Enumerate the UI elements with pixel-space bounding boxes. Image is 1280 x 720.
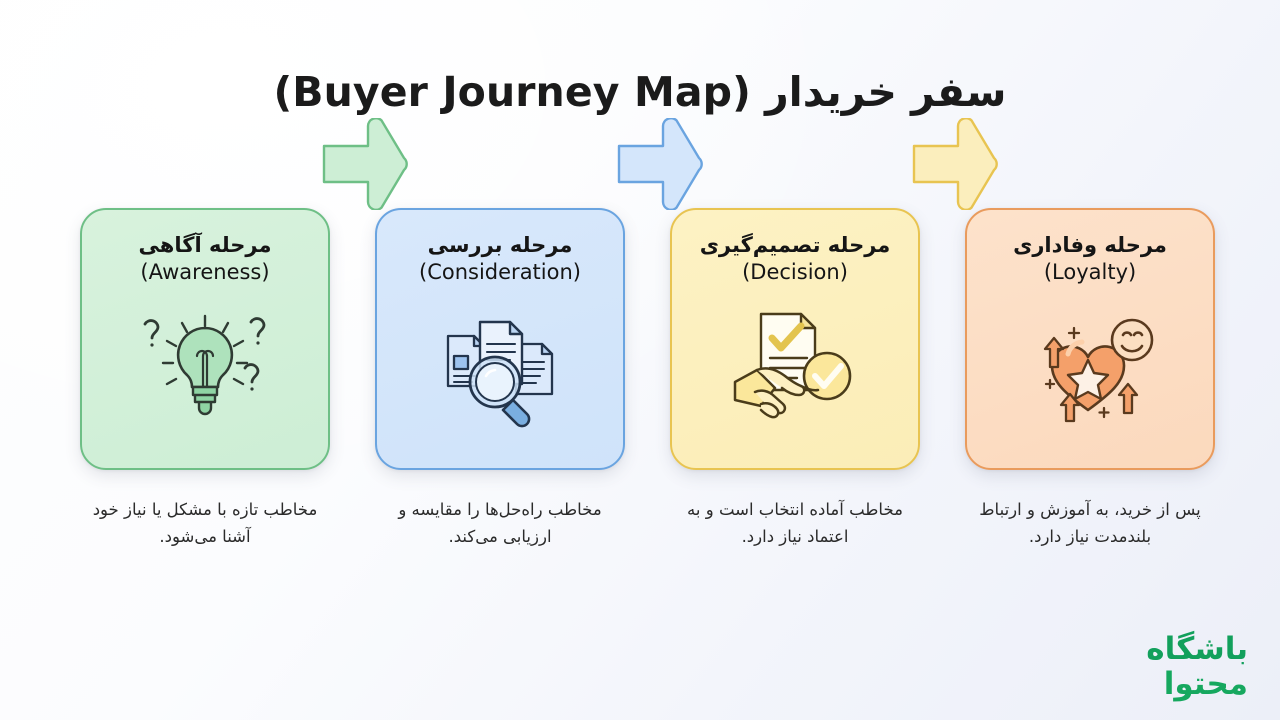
stage-heading: مرحله آگاهی (Awareness): [139, 232, 272, 286]
stage-caption-loyalty: پس از خرید، به آموزش و ارتباط بلندمدت نی…: [964, 497, 1216, 550]
stage-heading: مرحله بررسی (Consideration): [419, 232, 581, 286]
stage-heading: مرحله تصمیم‌گیری (Decision): [700, 232, 891, 286]
brand-logo-line-2: محتوا: [1146, 669, 1248, 700]
stage-title-en: (Decision): [700, 259, 891, 286]
arrow-consideration-to-decision: [617, 118, 703, 210]
arrow-awareness-to-consideration: [322, 118, 408, 210]
stage-card-decision[interactable]: مرحله تصمیم‌گیری (Decision): [670, 208, 920, 470]
journey-stage-row: مرحله آگاهی (Awareness): [0, 208, 1280, 478]
stage-caption-decision: مخاطب آماده انتخاب است و به اعتماد نیاز …: [669, 497, 921, 550]
stage-card-awareness[interactable]: مرحله آگاهی (Awareness): [80, 208, 330, 470]
stage-title-fa: مرحله بررسی: [419, 232, 581, 259]
stage-caption-awareness: مخاطب تازه با مشکل یا نیاز خود آشنا می‌ش…: [79, 497, 331, 550]
stage-caption-consideration: مخاطب راه‌حل‌ها را مقایسه و ارزیابی می‌ک…: [374, 497, 626, 550]
brand-logo-line-1: باشگاه: [1146, 634, 1248, 665]
stage-card-consideration[interactable]: مرحله بررسی (Consideration): [375, 208, 625, 470]
stage-title-fa: مرحله تصمیم‌گیری: [700, 232, 891, 259]
handshake-checkmark-icon: [715, 292, 875, 432]
stage-title-fa: مرحله وفاداری: [1013, 232, 1167, 259]
documents-magnifier-icon: [420, 292, 580, 432]
slide-canvas: سفر خریدار (Buyer Journey Map) مرحله آگا…: [0, 0, 1280, 720]
stage-heading: مرحله وفاداری (Loyalty): [1013, 232, 1167, 286]
stage-title-en: (Loyalty): [1013, 259, 1167, 286]
stage-card-loyalty[interactable]: مرحله وفاداری (Loyalty): [965, 208, 1215, 470]
brand-logo: باشگاه محتوا: [1146, 634, 1248, 700]
stage-caption-row: مخاطب تازه با مشکل یا نیاز خود آشنا می‌ش…: [0, 497, 1280, 577]
arrow-decision-to-loyalty: [912, 118, 998, 210]
stage-title-fa: مرحله آگاهی: [139, 232, 272, 259]
page-title: سفر خریدار (Buyer Journey Map): [0, 68, 1280, 116]
lightbulb-question-icon: [125, 292, 285, 432]
stage-title-en: (Awareness): [139, 259, 272, 286]
stage-title-en: (Consideration): [419, 259, 581, 286]
heart-star-smiley-icon: [1010, 292, 1170, 432]
